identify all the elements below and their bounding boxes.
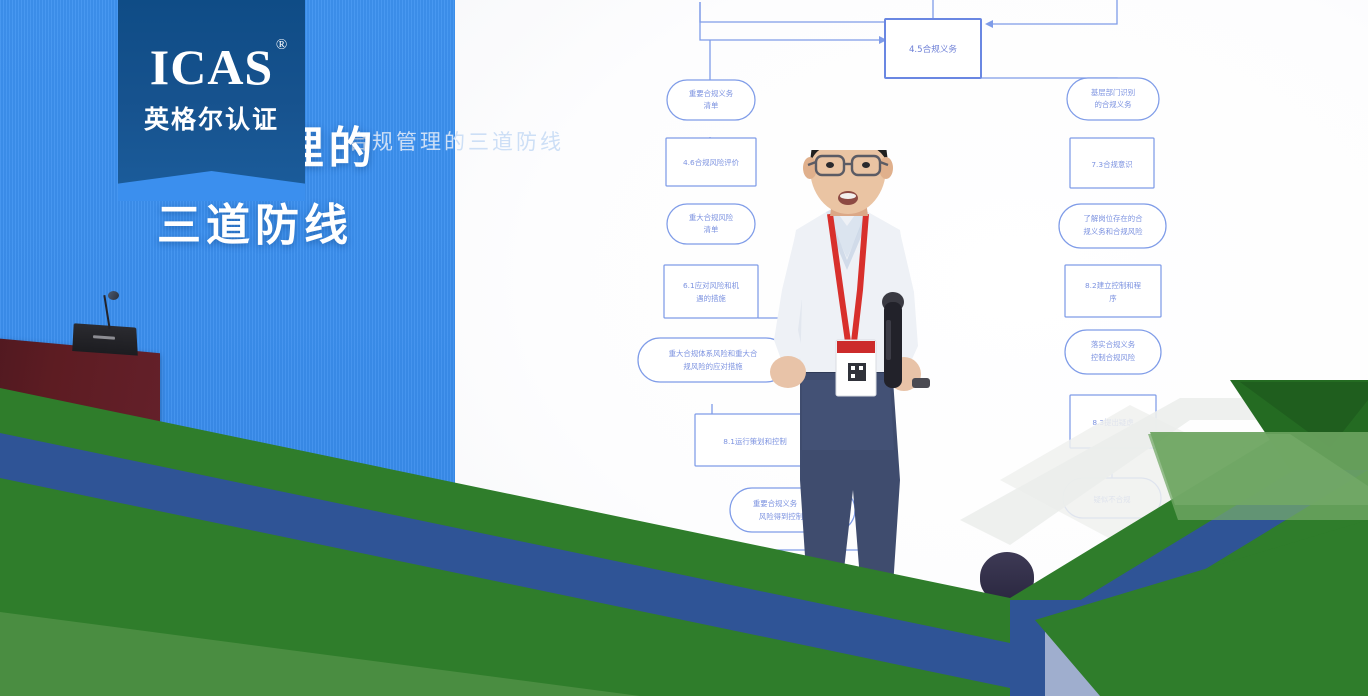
flow-node-box: 8.2建立控制和程 序 bbox=[1065, 265, 1161, 317]
logo-wrap: ICAS® 英格尔认证 bbox=[118, 42, 305, 136]
flow-node-label-line2: 规义务和合规风险 bbox=[1083, 227, 1143, 236]
flow-node-pill: 了解岗位存在的合 规义务和合规风险 bbox=[1059, 204, 1166, 248]
flow-node-pill: 疑似不合规 bbox=[1063, 478, 1161, 518]
podium-top-surface bbox=[72, 323, 138, 355]
flow-node-label-line1: 重要合规义务 bbox=[689, 89, 734, 98]
flow-node-label-line2: 规风险的应对措施 bbox=[683, 362, 743, 371]
flow-node-label-line2: 遇的措施 bbox=[696, 294, 726, 303]
flow-node-label: 8.3提出疑虑 bbox=[1092, 418, 1134, 427]
screenshot-stage: 合规管理的 三道防线 ICAS® 英格尔认证 合规管理的三道防线 bbox=[0, 0, 1368, 696]
flow-node-label: 4.6合规风险评价 bbox=[683, 158, 740, 167]
audience-head bbox=[630, 538, 688, 590]
led-headline-line2: 三道防线 bbox=[60, 201, 450, 252]
podium-microphone-head-icon bbox=[108, 291, 119, 300]
flow-node-label: 疑似不合规 bbox=[1094, 495, 1132, 504]
flow-node-pill: 落实合规义务 控制合规风险 bbox=[1065, 330, 1161, 374]
flow-node-label: 7.3合规意识 bbox=[1091, 160, 1132, 169]
flow-node-label-line1: 基层部门识别 bbox=[1091, 88, 1135, 97]
flow-node-label-line1: 8.2建立控制和程 bbox=[1085, 281, 1142, 290]
flow-node-label-line1: 重大合规风险 bbox=[689, 213, 734, 222]
brand-latin-text: ICAS bbox=[150, 39, 273, 95]
speaker-figure bbox=[742, 150, 972, 620]
speaker-left-hand bbox=[770, 356, 806, 388]
flow-node-box: 8.3提出疑虑 bbox=[1070, 395, 1156, 448]
flow-node-label: 4.5合规义务 bbox=[909, 43, 957, 55]
flow-node-label-line2: 的合规义务 bbox=[1095, 100, 1133, 109]
brand-chinese-text: 英格尔认证 bbox=[118, 100, 305, 136]
flow-node-pill: 基层部门识别 的合规义务 bbox=[1067, 78, 1159, 120]
flow-node-box: 4.5合规义务 bbox=[885, 19, 981, 78]
flow-node-label-line2: 控制合规风险 bbox=[1091, 353, 1136, 362]
flow-node-box: 7.3合规意识 bbox=[1070, 138, 1154, 188]
brand-wordmark: ICAS® bbox=[150, 42, 273, 92]
flow-node-label-line1: 6.1应对风险和机 bbox=[683, 281, 740, 290]
speaker-badge bbox=[836, 340, 876, 396]
speaker-microphone-icon bbox=[882, 292, 904, 388]
icas-logo-banner: ICAS® 英格尔认证 bbox=[118, 0, 305, 200]
flow-node-pill: 重要合规义务 清单 bbox=[667, 80, 755, 120]
audience-shoulders bbox=[955, 600, 1075, 660]
flow-node-label-line1: 落实合规义务 bbox=[1091, 340, 1136, 349]
flow-node-label-line2: 清单 bbox=[704, 225, 719, 234]
flow-node-label-line1: 了解岗位存在的合 bbox=[1083, 214, 1143, 223]
registered-mark-icon: ® bbox=[276, 38, 288, 53]
flow-node-label-line2: 序 bbox=[1109, 294, 1117, 303]
flow-node-label-line2: 清单 bbox=[704, 101, 719, 110]
audience-head bbox=[980, 552, 1034, 602]
